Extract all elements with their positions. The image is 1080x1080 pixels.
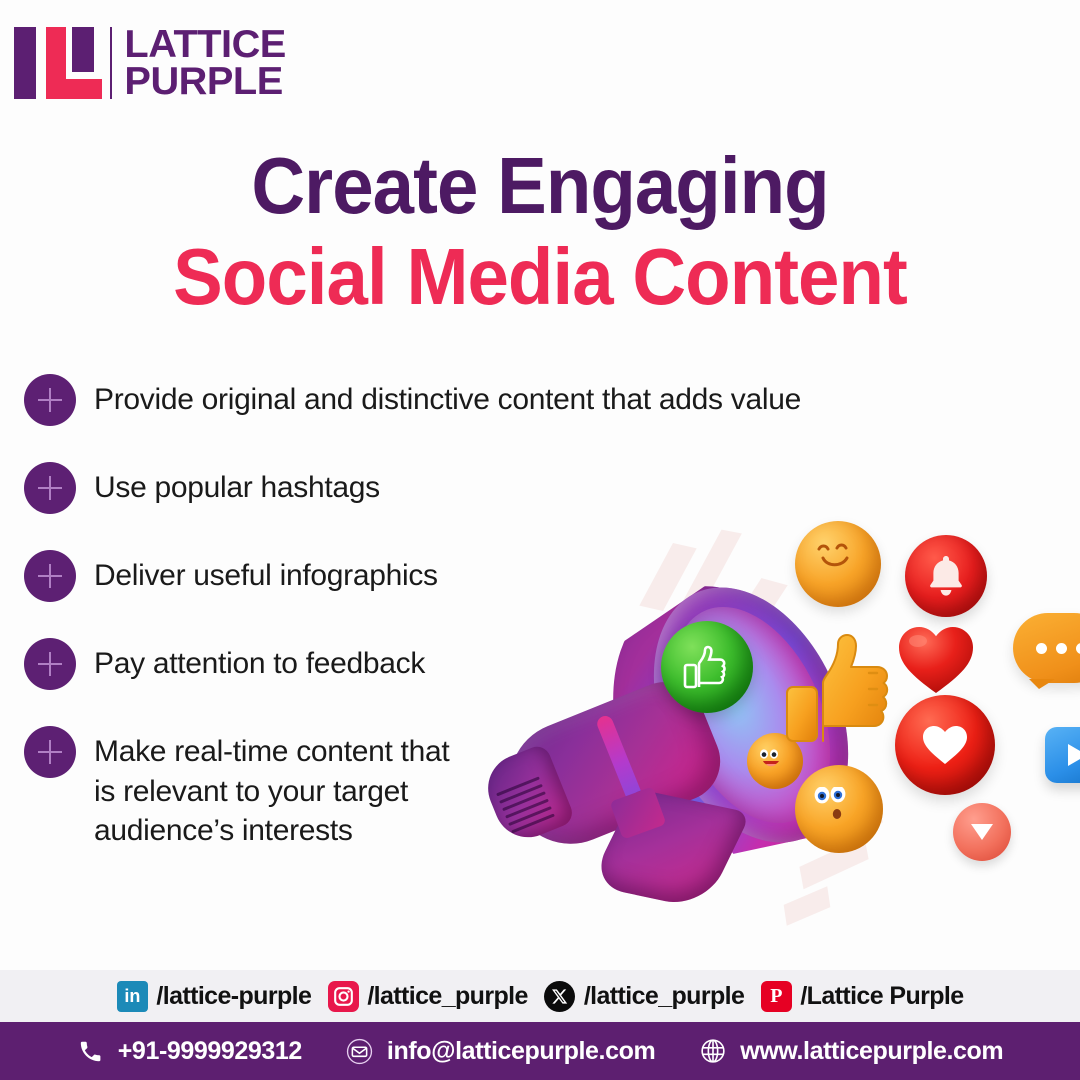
contact-phone-value: +91-9999929312 — [118, 1037, 302, 1066]
logo-divider — [110, 27, 112, 99]
contact-email-value: info@latticepurple.com — [387, 1037, 655, 1066]
linkedin-icon[interactable]: in — [116, 980, 148, 1012]
x-twitter-icon[interactable] — [544, 980, 576, 1012]
emoji-ball-icon — [795, 765, 883, 853]
social-item-pinterest[interactable]: P /Lattice Purple — [760, 980, 963, 1012]
bell-icon — [905, 535, 987, 617]
play-button-icon — [1045, 727, 1080, 783]
contact-item-phone[interactable]: +91-9999929312 — [77, 1037, 302, 1066]
list-item-label: Make real-time content that is relevant … — [94, 732, 454, 851]
smiley-icon — [795, 521, 881, 607]
social-item-linkedin[interactable]: in /lattice-purple — [116, 980, 311, 1012]
contact-bar: +91-9999929312 info@latticepurple.com ww… — [0, 1022, 1080, 1080]
instagram-icon[interactable] — [327, 980, 359, 1012]
headline-line-1: Create Engaging — [38, 140, 1042, 231]
down-arrow-icon — [953, 803, 1011, 861]
contact-website-value: www.latticepurple.com — [740, 1037, 1003, 1066]
heart-circle-icon — [895, 695, 995, 795]
globe-icon — [699, 1037, 727, 1065]
speech-bubble-icon — [1013, 613, 1080, 683]
megaphone-illustration — [455, 515, 1080, 970]
contact-item-website[interactable]: www.latticepurple.com — [699, 1037, 1003, 1066]
list-item-label: Use popular hashtags — [94, 468, 380, 508]
logo-wordmark: LATTICE PURPLE — [126, 26, 284, 101]
list-item: Use popular hashtags — [24, 468, 904, 514]
social-handle-label: /lattice_purple — [367, 982, 528, 1011]
plus-icon — [24, 550, 76, 602]
list-item: Provide original and distinctive content… — [24, 380, 904, 426]
list-item-label: Pay attention to feedback — [94, 644, 425, 684]
social-item-x[interactable]: /lattice_purple — [544, 980, 745, 1012]
headline: Create Engaging Social Media Content — [0, 140, 1080, 322]
plus-icon — [24, 726, 76, 778]
social-item-instagram[interactable]: /lattice_purple — [327, 980, 528, 1012]
heart-icon — [897, 623, 975, 695]
pinterest-icon[interactable]: P — [760, 980, 792, 1012]
social-handles-bar: in /lattice-purple /lattice_purple /latt… — [0, 970, 1080, 1022]
plus-icon — [24, 374, 76, 426]
thumbs-up-ball-icon — [661, 621, 753, 713]
phone-icon — [77, 1037, 105, 1065]
logo-line-2: PURPLE — [124, 63, 285, 100]
list-item-label: Deliver useful infographics — [94, 556, 438, 596]
contact-item-email[interactable]: info@latticepurple.com — [346, 1037, 655, 1066]
brand-logo: LATTICE PURPLE — [14, 22, 284, 104]
logo-line-1: LATTICE — [124, 26, 285, 63]
plus-icon — [24, 462, 76, 514]
plus-icon — [24, 638, 76, 690]
thumbs-up-icon — [785, 633, 893, 754]
social-handle-label: /lattice_purple — [584, 982, 745, 1011]
list-item-label: Provide original and distinctive content… — [94, 380, 801, 420]
social-handle-label: /Lattice Purple — [800, 982, 963, 1011]
logo-mark-icon — [14, 22, 94, 104]
email-icon — [346, 1037, 374, 1065]
headline-line-2: Social Media Content — [38, 231, 1042, 322]
social-handle-label: /lattice-purple — [156, 982, 311, 1011]
